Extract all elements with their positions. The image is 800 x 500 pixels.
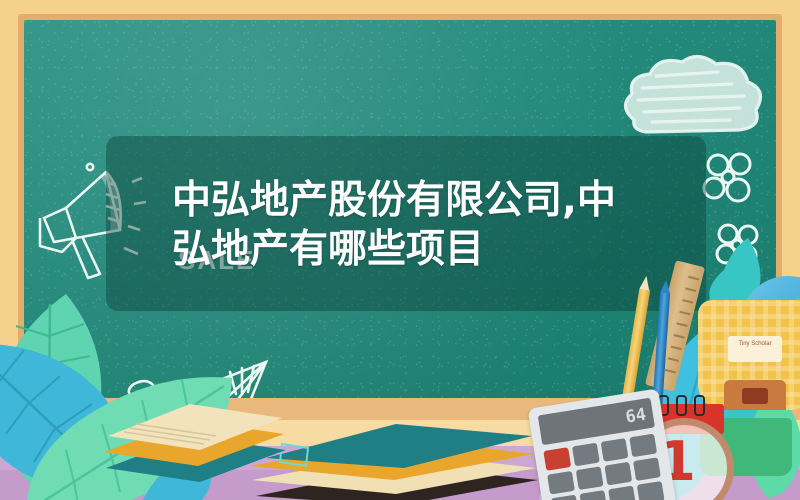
backpack-icon: Tiny Scholar (698, 300, 800, 410)
calculator-icon: 64 (528, 388, 677, 500)
flower-chalk-icon (700, 150, 760, 208)
book-stack (246, 410, 546, 500)
calculator-display: 64 (624, 405, 647, 428)
banner-image: SALE 中弘地产股份有限公司,中弘地产有哪些项目 (0, 0, 800, 500)
book-stack-left (100, 398, 290, 484)
backpack-buckle (742, 388, 768, 404)
calculator-keypad (543, 434, 664, 500)
page-title: 中弘地产股份有限公司,中弘地产有哪些项目 (172, 176, 642, 274)
backpack-tag: Tiny Scholar (728, 336, 782, 362)
